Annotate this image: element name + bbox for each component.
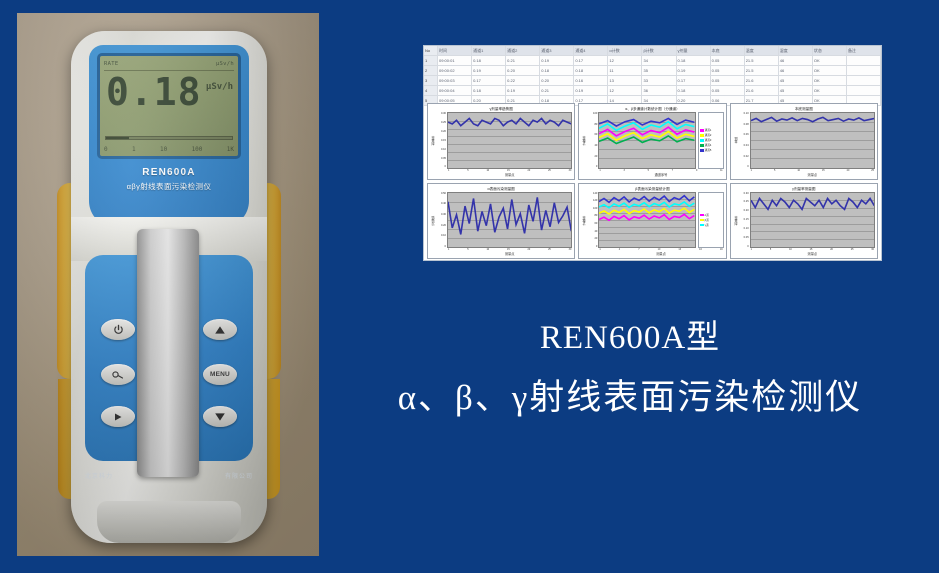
chart-body: 污染值0.500.400.300.200.100 xyxy=(430,192,572,249)
legend-label: 通道5 xyxy=(705,148,712,152)
legend-label: 通道3 xyxy=(705,138,712,142)
chart-series-line xyxy=(599,208,694,214)
chart-body: 计数率100806040200通道1通道2通道3通道4通道5 xyxy=(581,112,723,169)
table-cell xyxy=(847,56,881,65)
chart-x-axis-label: 测量点 xyxy=(447,172,572,177)
key-icon xyxy=(112,370,125,380)
chart-legend: α道β道γ道 xyxy=(698,192,724,249)
y-tick: 0 xyxy=(587,245,597,248)
chart-y-ticks: 100806040200 xyxy=(587,112,598,169)
table-cell: 35 xyxy=(642,66,676,75)
menu-button[interactable]: MENU xyxy=(203,364,237,385)
lcd-bar-fill xyxy=(106,137,129,139)
chart-y-ticks: 0.300.250.200.150.100.050 xyxy=(739,192,750,249)
y-tick: 0.25 xyxy=(739,200,749,203)
table-cell: 09:00:03 xyxy=(438,76,472,85)
y-tick: 60 xyxy=(587,133,597,136)
lcd-bezel: RATE μSv/h 0.18 μSv/h 01101001K xyxy=(97,53,241,159)
chart-plot-area xyxy=(598,112,695,169)
y-tick: 0.10 xyxy=(739,112,749,115)
y-tick: 0.40 xyxy=(436,202,446,205)
table-cell: 21.5 xyxy=(745,56,779,65)
chart-series-svg xyxy=(751,193,874,248)
y-tick: 0.20 xyxy=(436,130,446,133)
table-cell xyxy=(847,76,881,85)
play-button[interactable] xyxy=(101,406,135,427)
table-cell: 0.05 xyxy=(711,86,745,95)
y-tick: 100 xyxy=(587,207,597,210)
y-tick: 40 xyxy=(587,230,597,233)
play-icon xyxy=(113,412,123,422)
table-header-cell: 通道2 xyxy=(506,46,540,55)
chart-x-axis-label: 测量点 xyxy=(447,251,572,256)
legend-swatch xyxy=(700,144,704,147)
y-tick: 0 xyxy=(739,165,749,168)
chart-series-svg xyxy=(599,113,694,168)
chart-card[interactable]: 本底测量图本底0.100.080.060.040.0201510152025测量… xyxy=(730,103,878,180)
table-header-cell: γ剂量 xyxy=(677,46,711,55)
table-cell: 09:00:02 xyxy=(438,66,472,75)
table-cell: 0.21 xyxy=(506,56,540,65)
lcd-tick: 1K xyxy=(227,146,234,153)
legend-swatch xyxy=(700,139,704,142)
table-header-cell: 本底 xyxy=(711,46,745,55)
table-cell: 0.17 xyxy=(574,56,608,65)
chart-body: 计数率140120100806040200α道β道γ道 xyxy=(581,192,723,249)
y-tick: 0.10 xyxy=(739,227,749,230)
chart-plot-area xyxy=(598,192,695,249)
chart-series-line xyxy=(751,198,874,209)
y-tick: 140 xyxy=(587,192,597,195)
y-tick: 0.05 xyxy=(436,157,446,160)
table-cell: 0.20 xyxy=(540,76,574,85)
table-cell: 0.19 xyxy=(677,66,711,75)
device-model-name: REN600A xyxy=(89,167,249,178)
device-bottom-cap xyxy=(97,501,241,543)
power-button[interactable] xyxy=(101,319,135,340)
legend-item: γ道 xyxy=(700,223,722,227)
lcd-reading-value: 0.18 xyxy=(106,73,202,111)
table-cell: 12 xyxy=(608,86,642,95)
chart-series-svg xyxy=(448,113,571,168)
y-tick: 0.30 xyxy=(739,192,749,195)
chart-x-axis-label: 测量点 xyxy=(598,251,723,256)
table-cell: 34 xyxy=(642,56,676,65)
table-cell: 4 xyxy=(424,86,438,95)
chart-y-axis-label: 剂量率 xyxy=(733,192,739,249)
y-tick: 0 xyxy=(587,165,597,168)
table-cell: 12 xyxy=(608,56,642,65)
radiation-detector-device: RATE μSv/h 0.18 μSv/h 01101001K REN600A … xyxy=(55,31,283,543)
chart-body: 本底0.100.080.060.040.020 xyxy=(733,112,875,169)
y-tick: 20 xyxy=(587,237,597,240)
table-cell: 0.18 xyxy=(472,86,506,95)
chart-y-ticks: 0.100.080.060.040.020 xyxy=(739,112,750,169)
maker-left: 北京科力 xyxy=(85,471,113,480)
table-cell: 0.20 xyxy=(506,66,540,75)
table-cell: 0.17 xyxy=(677,76,711,85)
table-cell: 45 xyxy=(779,76,813,85)
y-tick: 0.08 xyxy=(739,123,749,126)
page-subtitle: α、β、γ射线表面污染检测仪 xyxy=(330,372,930,424)
table-cell: 46 xyxy=(779,56,813,65)
chart-y-ticks: 0.300.250.200.150.100.050 xyxy=(436,112,447,169)
table-cell: 09:00:04 xyxy=(438,86,472,95)
table-cell: 0.18 xyxy=(677,56,711,65)
table-cell: 11 xyxy=(608,66,642,75)
slide-canvas: RATE μSv/h 0.18 μSv/h 01101001K REN600A … xyxy=(0,0,939,573)
chart-y-ticks: 0.500.400.300.200.100 xyxy=(436,192,447,249)
legend-label: 通道1 xyxy=(705,128,712,132)
chart-body: 剂量率0.300.250.200.150.100.050 xyxy=(733,192,875,249)
table-row: 109:00:010.180.210.190.1712340.180.0521.… xyxy=(424,56,881,66)
table-cell: 0.17 xyxy=(472,76,506,85)
table-cell: 09:00:01 xyxy=(438,56,472,65)
table-cell: 2 xyxy=(424,66,438,75)
table-header-cell: 通道1 xyxy=(472,46,506,55)
legend-swatch xyxy=(700,134,704,137)
table-cell: 0.21 xyxy=(540,86,574,95)
table-header-cell: 通道4 xyxy=(574,46,608,55)
chart-series-line xyxy=(599,195,694,202)
lcd-tick: 10 xyxy=(160,146,167,153)
table-cell: OK xyxy=(813,86,847,95)
table-cell: 21.5 xyxy=(745,66,779,75)
y-tick: 60 xyxy=(587,222,597,225)
y-tick: 80 xyxy=(587,214,597,217)
table-cell: 0.05 xyxy=(711,66,745,75)
table-cell: 0.18 xyxy=(574,66,608,75)
chart-plot-area xyxy=(447,112,572,169)
table-header-cell: β计数 xyxy=(642,46,676,55)
legend-item: 通道3 xyxy=(700,138,722,142)
chart-card[interactable]: γ剂量率趋势图剂量率0.300.250.200.150.100.05015101… xyxy=(427,103,575,180)
table-row: 309:00:030.170.220.200.1613330.170.0521.… xyxy=(424,76,881,86)
table-header-cell: 温度 xyxy=(745,46,779,55)
table-cell: 0.18 xyxy=(540,66,574,75)
table-cell: 21.6 xyxy=(745,86,779,95)
y-tick: 0.02 xyxy=(739,155,749,158)
table-cell xyxy=(847,66,881,75)
chart-card[interactable]: β表面污染测量统计图计数率140120100806040200α道β道γ道147… xyxy=(578,183,726,260)
legend-swatch xyxy=(700,224,704,227)
lcd-status-left: RATE xyxy=(104,61,118,67)
device-maker-text: 北京科力 有限公司 xyxy=(85,471,253,480)
legend-item: 通道4 xyxy=(700,143,722,147)
table-header-cell: 时间 xyxy=(438,46,472,55)
chart-series-svg xyxy=(599,193,694,248)
chart-series-line xyxy=(599,214,694,220)
legend-swatch xyxy=(700,129,704,132)
legend-label: 通道4 xyxy=(705,143,712,147)
legend-item: α道 xyxy=(700,213,722,217)
table-cell: 1 xyxy=(424,56,438,65)
table-cell: 3 xyxy=(424,76,438,85)
down-button[interactable] xyxy=(203,406,237,427)
triangle-down-icon xyxy=(214,412,226,422)
table-cell: 46 xyxy=(779,66,813,75)
y-tick: 0.10 xyxy=(436,148,446,151)
chart-plot-area xyxy=(750,112,875,169)
legend-label: α道 xyxy=(705,213,709,217)
menu-button-label: MENU xyxy=(210,371,230,378)
chart-y-axis-label: 计数率 xyxy=(581,192,587,249)
lcd-bar-graph xyxy=(105,136,233,140)
data-table: No时间通道1通道2通道3通道4α计数β计数γ剂量本底温度湿度状态备注109:0… xyxy=(424,46,881,100)
table-header-cell: 状态 xyxy=(813,46,847,55)
chart-grid: γ剂量率趋势图剂量率0.300.250.200.150.100.05015101… xyxy=(424,100,881,261)
y-tick: 0 xyxy=(739,245,749,248)
y-tick: 0.30 xyxy=(436,213,446,216)
table-header-cell: 备注 xyxy=(847,46,881,55)
y-tick: 80 xyxy=(587,123,597,126)
chart-plot-area xyxy=(447,192,572,249)
table-cell: 0.18 xyxy=(677,86,711,95)
legend-label: 通道2 xyxy=(705,133,712,137)
table-cell: 33 xyxy=(642,76,676,85)
table-row: 209:00:020.190.200.180.1811350.190.0521.… xyxy=(424,66,881,76)
y-tick: 0.15 xyxy=(739,218,749,221)
table-cell xyxy=(847,86,881,95)
table-header-cell: 湿度 xyxy=(779,46,813,55)
y-tick: 0.30 xyxy=(436,112,446,115)
chart-x-axis-label: 测量点 xyxy=(750,251,875,256)
chart-body: 剂量率0.300.250.200.150.100.050 xyxy=(430,112,572,169)
table-cell: 21.6 xyxy=(745,76,779,85)
legend-item: 通道5 xyxy=(700,148,722,152)
table-header-cell: 通道3 xyxy=(540,46,574,55)
table-cell: 0.19 xyxy=(540,56,574,65)
table-cell: 0.18 xyxy=(472,56,506,65)
table-header-cell: No xyxy=(424,46,438,55)
chart-y-axis-label: 污染值 xyxy=(430,192,436,249)
y-tick: 0.06 xyxy=(739,133,749,136)
y-tick: 0.20 xyxy=(739,209,749,212)
chart-x-axis-label: 测量点 xyxy=(750,172,875,177)
table-cell: OK xyxy=(813,56,847,65)
product-photo: RATE μSv/h 0.18 μSv/h 01101001K REN600A … xyxy=(17,13,319,556)
table-cell: 36 xyxy=(642,86,676,95)
table-header-cell: α计数 xyxy=(608,46,642,55)
table-cell: 45 xyxy=(779,86,813,95)
y-tick: 0.25 xyxy=(436,121,446,124)
chart-card[interactable]: α、β多通道计数统计图（分通道）计数率100806040200通道1通道2通道3… xyxy=(578,103,726,180)
chart-series-svg xyxy=(448,193,571,248)
y-tick: 0.04 xyxy=(739,144,749,147)
up-button[interactable] xyxy=(203,319,237,340)
table-cell: 0.19 xyxy=(574,86,608,95)
caption-block: REN600A型 α、β、γ射线表面污染检测仪 xyxy=(330,318,930,424)
y-tick: 0.50 xyxy=(436,192,446,195)
lcd-tick: 1 xyxy=(132,146,136,153)
legend-item: 通道1 xyxy=(700,128,722,132)
chart-series-line xyxy=(599,118,694,126)
y-tick: 0.15 xyxy=(436,139,446,142)
search-button[interactable] xyxy=(101,364,135,385)
legend-swatch xyxy=(700,214,704,217)
chart-y-axis-label: 剂量率 xyxy=(430,112,436,169)
lcd-tick: 0 xyxy=(104,146,108,153)
lcd-reading-unit: μSv/h xyxy=(206,82,233,92)
chart-card[interactable]: γ剂量率测量图剂量率0.300.250.200.150.100.05015101… xyxy=(730,183,878,260)
device-upper-faceplate: RATE μSv/h 0.18 μSv/h 01101001K REN600A … xyxy=(89,45,249,227)
table-cell: 0.22 xyxy=(506,76,540,85)
table-cell: 0.16 xyxy=(574,76,608,85)
lcd-screen: RATE μSv/h 0.18 μSv/h 01101001K xyxy=(100,56,238,156)
chart-y-axis-label: 计数率 xyxy=(581,112,587,169)
table-header-row: No时间通道1通道2通道3通道4α计数β计数γ剂量本底温度湿度状态备注 xyxy=(424,46,881,56)
y-tick: 20 xyxy=(587,155,597,158)
software-screenshot-panel: No时间通道1通道2通道3通道4α计数β计数γ剂量本底温度湿度状态备注109:0… xyxy=(423,45,882,261)
chart-legend: 通道1通道2通道3通道4通道5 xyxy=(698,112,724,169)
y-tick: 40 xyxy=(587,144,597,147)
chart-series-line xyxy=(599,201,694,207)
chart-y-axis-label: 本底 xyxy=(733,112,739,169)
legend-label: γ道 xyxy=(705,223,709,227)
legend-item: 通道2 xyxy=(700,133,722,137)
y-tick: 100 xyxy=(587,112,597,115)
maker-right: 有限公司 xyxy=(225,471,253,480)
chart-series-line xyxy=(448,197,571,234)
lcd-tick: 100 xyxy=(192,146,203,153)
device-model-subtitle: αβγ射线表面污染检测仪 xyxy=(89,181,249,192)
legend-item: β道 xyxy=(700,218,722,222)
chart-y-ticks: 140120100806040200 xyxy=(587,192,598,249)
table-cell: 0.05 xyxy=(711,76,745,85)
device-handle-bar xyxy=(137,229,199,477)
legend-swatch xyxy=(700,149,704,152)
y-tick: 0.20 xyxy=(436,224,446,227)
chart-plot-area xyxy=(750,192,875,249)
y-tick: 0.10 xyxy=(436,234,446,237)
y-tick: 120 xyxy=(587,199,597,202)
table-cell: 0.19 xyxy=(506,86,540,95)
table-cell: 0.05 xyxy=(711,56,745,65)
lcd-status-bar: RATE μSv/h xyxy=(104,58,234,69)
lcd-status-right: μSv/h xyxy=(216,61,234,67)
legend-label: β道 xyxy=(705,218,709,222)
triangle-up-icon xyxy=(214,325,226,335)
y-tick: 0 xyxy=(436,245,446,248)
table-cell: OK xyxy=(813,76,847,85)
device-model-label: REN600A αβγ射线表面污染检测仪 xyxy=(89,167,249,192)
chart-x-axis-label: 通道序号 xyxy=(598,172,723,177)
table-cell: OK xyxy=(813,66,847,75)
table-cell: 0.19 xyxy=(472,66,506,75)
power-icon xyxy=(113,324,124,335)
chart-series-svg xyxy=(751,113,874,168)
legend-swatch xyxy=(700,219,704,222)
chart-series-line xyxy=(448,118,571,125)
lcd-scale-ticks: 01101001K xyxy=(104,144,234,154)
y-tick: 0 xyxy=(436,165,446,168)
page-title: REN600A型 xyxy=(330,318,930,358)
y-tick: 0.05 xyxy=(739,236,749,239)
table-row: 409:00:040.180.190.210.1912360.180.0521.… xyxy=(424,86,881,96)
chart-series-line xyxy=(751,117,874,121)
table-cell: 13 xyxy=(608,76,642,85)
chart-card[interactable]: α表面污染测量图污染值0.500.400.300.200.10015101520… xyxy=(427,183,575,260)
